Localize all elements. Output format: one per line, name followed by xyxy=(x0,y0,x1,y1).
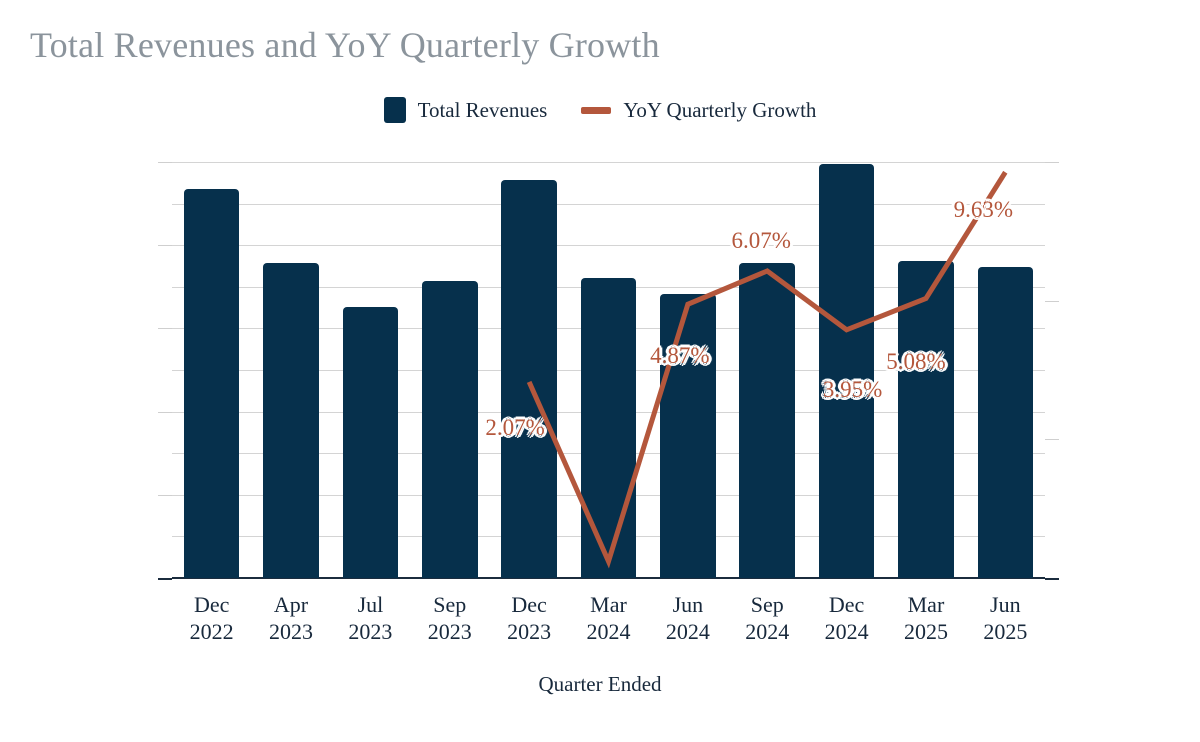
y-axis-tick-left xyxy=(158,328,172,329)
x-axis-label: Mar2025 xyxy=(904,592,948,646)
x-axis-label: Jul2023 xyxy=(348,592,392,646)
legend-item-yoy-quarterly-growth[interactable]: YoY Quarterly Growth xyxy=(581,98,816,123)
x-axis-label-month: Mar xyxy=(904,592,948,619)
x-axis-label-month: Mar xyxy=(587,592,631,619)
x-axis-label-month: Jun xyxy=(983,592,1027,619)
x-axis-label-month: Apr xyxy=(269,592,313,619)
data-point-label: 6.07% xyxy=(732,228,791,254)
x-axis-label-year: 2024 xyxy=(745,619,789,646)
legend-label-yoy-quarterly-growth: YoY Quarterly Growth xyxy=(623,98,816,123)
y-axis-tick-left xyxy=(158,162,172,163)
chart-legend: Total Revenues YoY Quarterly Growth xyxy=(0,97,1200,123)
legend-label-total-revenues: Total Revenues xyxy=(418,98,548,123)
x-axis-label: Mar2024 xyxy=(587,592,631,646)
x-axis-label-month: Dec xyxy=(825,592,869,619)
y-axis-tick-left xyxy=(158,412,172,413)
legend-swatch-bar-icon xyxy=(384,97,406,123)
data-point-label: 2.07% xyxy=(485,415,544,441)
data-point-label: 9.63% xyxy=(954,197,1013,223)
x-axis-label: Dec2023 xyxy=(507,592,551,646)
y-axis-tick-right xyxy=(1045,162,1059,163)
x-axis-label-year: 2023 xyxy=(269,619,313,646)
x-axis-label-month: Jun xyxy=(666,592,710,619)
x-axis-label-year: 2022 xyxy=(190,619,234,646)
x-axis-label-year: 2025 xyxy=(904,619,948,646)
data-point-label: 5.08% xyxy=(886,349,945,375)
x-axis-label: Dec2022 xyxy=(190,592,234,646)
y-axis-tick-right xyxy=(1045,578,1059,580)
data-point-label: 4.87% xyxy=(650,343,709,369)
x-axis-label: Apr2023 xyxy=(269,592,313,646)
x-axis-label-month: Dec xyxy=(190,592,234,619)
x-axis-label: Jun2024 xyxy=(666,592,710,646)
x-axis-label: Jun2025 xyxy=(983,592,1027,646)
x-axis-label-month: Jul xyxy=(348,592,392,619)
y-axis-tick-left xyxy=(158,578,172,580)
x-axis-label-year: 2024 xyxy=(666,619,710,646)
x-axis-label: Sep2024 xyxy=(745,592,789,646)
y-axis-tick-left xyxy=(158,245,172,246)
legend-swatch-line-icon xyxy=(581,107,611,114)
y-axis-tick-right xyxy=(1045,439,1059,440)
x-axis-label-month: Dec xyxy=(507,592,551,619)
x-axis-label-month: Sep xyxy=(428,592,472,619)
x-axis-label-year: 2023 xyxy=(428,619,472,646)
x-axis-label-year: 2024 xyxy=(587,619,631,646)
x-axis-label-year: 2024 xyxy=(825,619,869,646)
chart-container: Total Revenues and YoY Quarterly Growth … xyxy=(0,0,1200,742)
data-point-label: 3.95% xyxy=(823,377,882,403)
x-axis-label-month: Sep xyxy=(745,592,789,619)
chart-title: Total Revenues and YoY Quarterly Growth xyxy=(30,24,660,66)
x-axis-label: Dec2024 xyxy=(825,592,869,646)
x-axis-label-year: 2023 xyxy=(507,619,551,646)
y-axis-tick-right xyxy=(1045,301,1059,302)
legend-item-total-revenues[interactable]: Total Revenues xyxy=(384,97,548,123)
x-axis-label-year: 2025 xyxy=(983,619,1027,646)
x-axis-label-year: 2023 xyxy=(348,619,392,646)
y-axis-tick-left xyxy=(158,495,172,496)
x-axis-label: Sep2023 xyxy=(428,592,472,646)
x-axis-title: Quarter Ended xyxy=(0,672,1200,697)
plot-area: 0.0025,000.0050,000.0075,000.00100,000.0… xyxy=(172,162,1045,578)
